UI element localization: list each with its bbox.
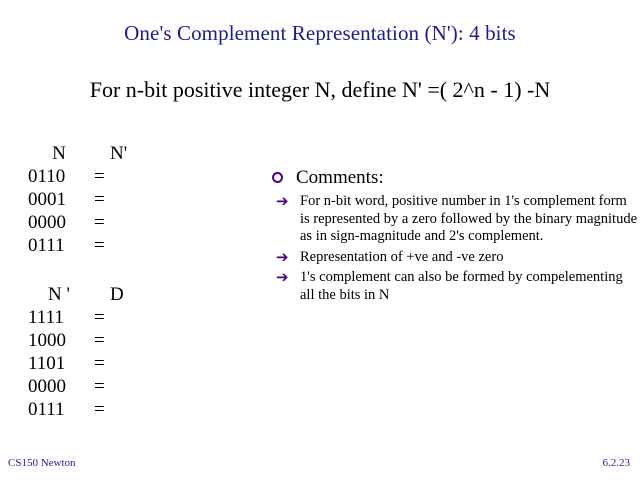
list-item: ➔ 1's complement can also be formed by c… xyxy=(270,269,638,304)
column-header-n: N xyxy=(30,142,88,165)
slide-canvas: One's Complement Representation (N'): 4 … xyxy=(0,0,640,480)
cell-value: 1111 xyxy=(28,306,90,329)
cell-value: 1101 xyxy=(28,352,90,375)
list-item-text: For n-bit word, positive number in 1's c… xyxy=(300,193,638,246)
comments-list: ➔ For n-bit word, positive number in 1's… xyxy=(270,193,638,305)
footer-course-label: CS150 Newton xyxy=(8,456,76,470)
list-item-text: 1's complement can also be formed by com… xyxy=(300,269,638,304)
column-header-nprime: N ' xyxy=(30,283,88,306)
cell-result: = xyxy=(94,306,105,329)
list-item: ➔ Representation of +ve and -ve zero xyxy=(270,249,638,267)
hollow-circle-icon xyxy=(272,172,283,183)
cell-value: 0111 xyxy=(28,234,90,257)
list-item: ➔ For n-bit word, positive number in 1's… xyxy=(270,193,638,246)
cell-value: 0000 xyxy=(28,211,90,234)
comments-section: Comments: ➔ For n-bit word, positive num… xyxy=(270,166,638,305)
cell-value: 0110 xyxy=(28,165,90,188)
definition-formula: For n-bit positive integer N, define N' … xyxy=(0,76,640,103)
cell-result: = xyxy=(94,234,105,257)
arrow-right-icon: ➔ xyxy=(276,269,289,287)
cell-result: = xyxy=(94,329,105,352)
cell-result: = xyxy=(94,165,105,188)
cell-result: = xyxy=(94,211,105,234)
cell-result: = xyxy=(94,375,105,398)
comments-heading-label: Comments: xyxy=(296,167,384,188)
list-item-text: Representation of +ve and -ve zero xyxy=(300,249,638,267)
comments-heading: Comments: xyxy=(270,166,638,190)
cell-value: 0111 xyxy=(28,398,90,421)
cell-result: = xyxy=(94,188,105,211)
column-header-nprime: N' xyxy=(110,142,127,165)
page-title: One's Complement Representation (N'): 4 … xyxy=(0,20,640,46)
arrow-right-icon: ➔ xyxy=(276,249,289,267)
cell-result: = xyxy=(94,398,105,421)
cell-value: 0001 xyxy=(28,188,90,211)
column-header-d: D xyxy=(110,283,124,306)
cell-value: 0000 xyxy=(28,375,90,398)
arrow-right-icon: ➔ xyxy=(276,193,289,211)
footer-slide-number: 6.2.23 xyxy=(603,456,631,470)
cell-result: = xyxy=(94,352,105,375)
cell-value: 1000 xyxy=(28,329,90,352)
